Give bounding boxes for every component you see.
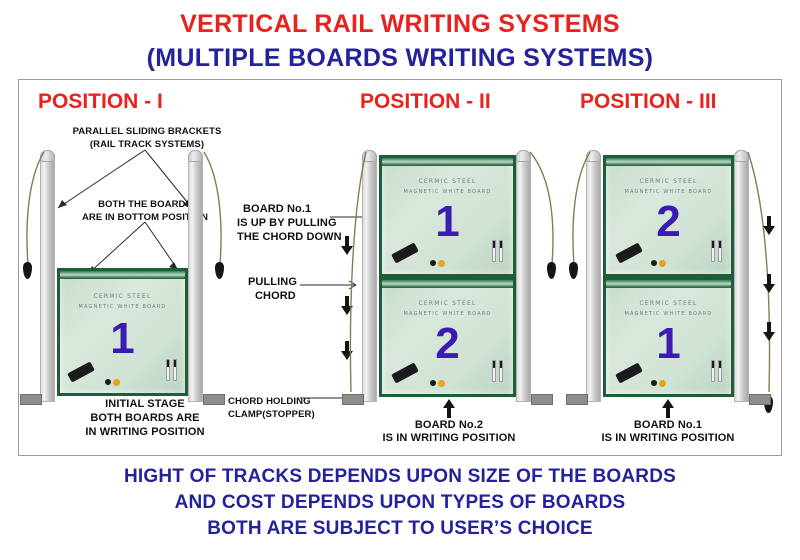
marker-pen-icon [711,360,715,382]
chord-holding-clamp-right-panel2 [531,394,553,405]
board-text-line2: MAGNETIC WHITE BOARD [382,189,513,195]
board-rail-top [606,280,731,288]
eraser-icon [391,242,419,263]
position-1-heading: POSITION - I [38,90,163,114]
position-3-heading: POSITION - III [580,90,717,114]
marker-pen-icon [718,240,722,262]
down-arrow-icon [763,322,775,342]
board-rail-top [606,158,731,166]
label-chord-clamp-line2: CLAMP(STOPPER) [228,409,315,421]
board-number: 1 [60,317,185,361]
caption-panel1-line3: IN WRITING POSITION [40,425,250,439]
board-text-line1: CERMIC STEEL [606,300,731,307]
magnet-dot-black-icon [651,260,657,266]
label-parallel-sliding-brackets-line1: PARALLEL SLIDING BRACKETS [52,126,242,138]
chord-holding-clamp-left-panel1 [20,394,42,405]
down-arrow-icon [763,216,775,236]
marker-pen-icon [492,360,496,382]
footer-line-3: BOTH ARE SUBJECT TO USER’S CHOICE [0,518,800,540]
marker-pen-icon [492,240,496,262]
marker-pen-icon [499,240,503,262]
up-arrow-icon [443,399,455,419]
marker-pen-icon [499,360,503,382]
pulling-chord-left-panel1 [22,152,52,272]
magnet-dot-black-icon [430,260,436,266]
magnet-dot-orange-icon [659,380,666,387]
board-number: 2 [606,200,731,244]
board-panel1: CERMIC STEEL MAGNETIC WHITE BOARD 1 [57,268,188,396]
board-rail-top [382,158,513,166]
caption-panel1-line2: BOTH BOARDS ARE [40,411,250,425]
board-bottom-panel3: CERMIC STEEL MAGNETIC WHITE BOARD 1 [603,277,734,397]
marker-pen-icon [166,359,170,381]
down-arrow-icon [763,274,775,294]
board-rail-top [382,280,513,288]
marker-pen-icon [711,240,715,262]
board-text-line2: MAGNETIC WHITE BOARD [606,189,731,195]
magnet-dot-black-icon [430,380,436,386]
marker-pen-icon [718,360,722,382]
pulling-chord-right-panel1 [198,152,228,272]
page-title: VERTICAL RAIL WRITING SYSTEMS [0,10,800,39]
board-number: 1 [382,200,513,244]
board-text-line2: MAGNETIC WHITE BOARD [606,311,731,317]
label-pulling-chord-line2: CHORD [255,289,296,303]
label-board1-up-line1: BOARD No.1 [243,202,311,216]
magnet-dot-black-icon [651,380,657,386]
marker-pen-icon [173,359,177,381]
board-text-line2: MAGNETIC WHITE BOARD [60,304,185,310]
caption-panel3-line2: IS IN WRITING POSITION [598,431,738,445]
magnet-dot-orange-icon [659,260,666,267]
label-board1-up-line2: IS UP BY PULLING [237,216,337,230]
page-subtitle: (MULTIPLE BOARDS WRITING SYSTEMS) [0,44,800,73]
pulling-chord-right-panel2 [526,152,562,272]
label-chord-clamp-line1: CHORD HOLDING [228,396,311,408]
diagram-canvas: VERTICAL RAIL WRITING SYSTEMS (MULTIPLE … [0,0,800,560]
up-arrow-icon [662,399,674,419]
magnet-dot-orange-icon [113,379,120,386]
pulling-chord-left-panel2 [344,152,374,398]
magnet-dot-black-icon [105,379,111,385]
board-rail-top [60,271,185,279]
magnet-dot-orange-icon [438,380,445,387]
caption-panel2-line1: BOARD No.2 [389,418,509,432]
board-text-line1: CERMIC STEEL [606,178,731,185]
chord-holding-clamp-right-panel3 [749,394,771,405]
pulling-chord-left-panel3 [568,152,598,272]
board-text-line1: CERMIC STEEL [382,300,513,307]
chord-holding-clamp-left-panel2 [342,394,364,405]
magnet-dot-orange-icon [438,260,445,267]
footer-line-2: AND COST DEPENDS UPON TYPES OF BOARDS [0,492,800,514]
board-text-line2: MAGNETIC WHITE BOARD [382,311,513,317]
board-text-line1: CERMIC STEEL [382,178,513,185]
eraser-icon [67,361,95,382]
board-top-panel3: CERMIC STEEL MAGNETIC WHITE BOARD 2 [603,155,734,277]
chord-holding-clamp-left-panel3 [566,394,588,405]
caption-panel3-line1: BOARD No.1 [608,418,728,432]
board-text-line1: CERMIC STEEL [60,293,185,300]
caption-panel1-line1: INITIAL STAGE [40,397,250,411]
footer-line-1: HIGHT OF TRACKS DEPENDS UPON SIZE OF THE… [0,466,800,488]
board-top-panel2: CERMIC STEEL MAGNETIC WHITE BOARD 1 [379,155,516,277]
position-2-heading: POSITION - II [360,90,491,114]
label-board1-up-line3: THE CHORD DOWN [237,230,342,244]
caption-panel2-line2: IS IN WRITING POSITION [379,431,519,445]
eraser-icon [615,242,643,263]
label-pulling-chord-line1: PULLING [248,275,297,289]
board-bottom-panel2: CERMIC STEEL MAGNETIC WHITE BOARD 2 [379,277,516,397]
